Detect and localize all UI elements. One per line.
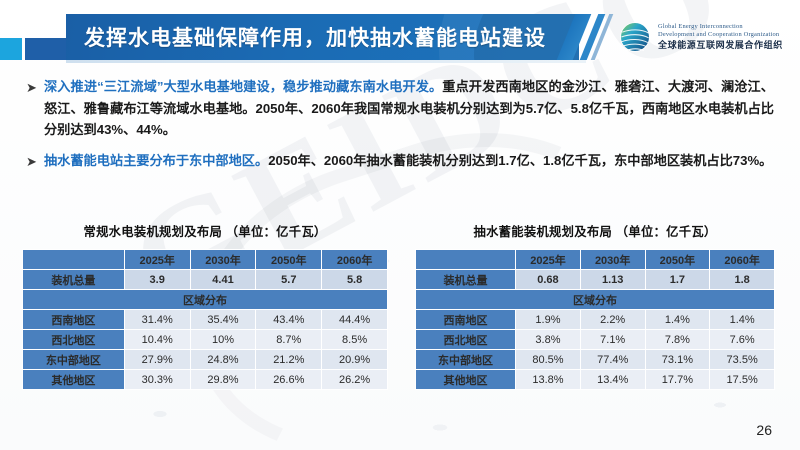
table-cell: 17.5% [710,370,774,389]
table-cell: 73.5% [710,350,774,369]
table-row: 东中部地区 27.9% 24.8% 21.2% 20.9% [23,350,387,369]
section-label: 区域分布 [23,290,387,309]
table-cell: 17.7% [646,370,710,389]
table-row: 西北地区 10.4% 10% 8.7% 8.5% [23,330,387,349]
table-cell: 5.7 [256,270,321,289]
table-cell: 3.8% [516,330,580,349]
table-header-row: 2025年 2030年 2050年 2060年 [23,250,387,269]
logo-english-line1: Global Energy Interconnection [658,23,783,30]
page-title: 发挥水电基础保障作用，加快抽水蓄能电站建设 [84,14,546,60]
table-cell: 8.7% [256,330,321,349]
table-row: 其他地区 13.8% 13.4% 17.7% 17.5% [416,370,774,389]
table-cell: 80.5% [516,350,580,369]
data-table: 2025年 2030年 2050年 2060年 装机总量 0.68 1.13 1… [415,249,775,390]
table-cell: 73.1% [646,350,710,369]
table-cell: 27.9% [125,350,190,369]
table-cell: 77.4% [581,350,645,369]
table-section-row: 区域分布 [23,290,387,309]
table-cell: 10.4% [125,330,190,349]
row-header: 西南地区 [416,310,515,329]
table-row: 西北地区 3.8% 7.1% 7.8% 7.6% [416,330,774,349]
bullet-arrow-icon: ➤ [26,76,44,98]
page-number: 26 [756,422,772,438]
table-cell: 3.9 [125,270,190,289]
table-title: 抽水蓄能装机规划及布局 （单位：亿千瓦） [415,222,775,240]
table-cell: 10% [191,330,256,349]
table-cell: 30.3% [125,370,190,389]
table-corner-cell [416,250,515,269]
table-cell: 20.9% [322,350,387,369]
row-header: 其他地区 [416,370,515,389]
header-accent-square-cyan [0,38,22,60]
table-section-row: 区域分布 [416,290,774,309]
column-header: 2025年 [125,250,190,269]
table-cell: 7.6% [710,330,774,349]
column-header: 2060年 [322,250,387,269]
organization-logo: Global Energy Interconnection Developmen… [619,16,794,58]
globe-icon [619,21,651,53]
table-row: 东中部地区 80.5% 77.4% 73.1% 73.5% [416,350,774,369]
table-cell: 1.9% [516,310,580,329]
table-row: 其他地区 30.3% 29.8% 26.6% 26.2% [23,370,387,389]
table-cell: 8.5% [322,330,387,349]
table-cell: 1.13 [581,270,645,289]
table-row: 西南地区 1.9% 2.2% 1.4% 1.4% [416,310,774,329]
table-cell: 13.8% [516,370,580,389]
table-row: 西南地区 31.4% 35.4% 43.4% 44.4% [23,310,387,329]
row-header: 西北地区 [23,330,124,349]
section-label: 区域分布 [416,290,774,309]
table-corner-cell [23,250,124,269]
table-row-total: 装机总量 0.68 1.13 1.7 1.8 [416,270,774,289]
bullet-item: ➤ 抽水蓄能电站主要分布于东中部地区。2050年、2060年抽水蓄能装机分别达到… [26,150,776,172]
table-cell: 13.4% [581,370,645,389]
table-cell: 5.8 [322,270,387,289]
bullet-list: ➤ 深入推进“三江流域”大型水电基地建设，稳步推动藏东南水电开发。重点开发西南地… [26,76,776,181]
column-header: 2030年 [581,250,645,269]
row-header: 装机总量 [416,270,515,289]
logo-chinese-name: 全球能源互联网发展合作组织 [658,40,783,50]
row-header: 东中部地区 [416,350,515,369]
table-cell: 24.8% [191,350,256,369]
table-header-row: 2025年 2030年 2050年 2060年 [416,250,774,269]
column-header: 2025年 [516,250,580,269]
table-cell: 1.4% [710,310,774,329]
row-header: 东中部地区 [23,350,124,369]
logo-english-line2: Development and Cooperation Organization [658,31,783,38]
bullet-rest: 2050年、2060年抽水蓄能装机分别达到1.7亿、1.8亿千瓦，东中部地区装机… [268,153,772,168]
table-cell: 26.2% [322,370,387,389]
table-cell: 31.4% [125,310,190,329]
bullet-text: 深入推进“三江流域”大型水电基地建设，稳步推动藏东南水电开发。重点开发西南地区的… [44,76,774,141]
slide-canvas: GEIDCO 发挥水电基础保障作用，加快抽水蓄能电站建设 [0,0,800,450]
row-header: 西南地区 [23,310,124,329]
bullet-item: ➤ 深入推进“三江流域”大型水电基地建设，稳步推动藏东南水电开发。重点开发西南地… [26,76,776,141]
data-table: 2025年 2030年 2050年 2060年 装机总量 3.9 4.41 5.… [22,249,388,390]
column-header: 2030年 [191,250,256,269]
table-cell: 44.4% [322,310,387,329]
row-header: 西北地区 [416,330,515,349]
bullet-text: 抽水蓄能电站主要分布于东中部地区。2050年、2060年抽水蓄能装机分别达到1.… [44,150,774,172]
table-cell: 26.6% [256,370,321,389]
table-cell: 43.4% [256,310,321,329]
column-header: 2050年 [256,250,321,269]
table-cell: 7.1% [581,330,645,349]
table-cell: 21.2% [256,350,321,369]
table-block-conventional-hydro: 常规水电装机规划及布局 （单位：亿千瓦） 2025年 2030年 2050年 2… [22,222,388,390]
bullet-arrow-icon: ➤ [26,150,44,172]
table-block-pumped-storage: 抽水蓄能装机规划及布局 （单位：亿千瓦） 2025年 2030年 2050年 2… [415,222,775,390]
table-row-total: 装机总量 3.9 4.41 5.7 5.8 [23,270,387,289]
table-cell: 1.7 [646,270,710,289]
table-cell: 35.4% [191,310,256,329]
header-underline [66,60,586,63]
table-title: 常规水电装机规划及布局 （单位：亿千瓦） [22,222,388,240]
column-header: 2060年 [710,250,774,269]
table-cell: 0.68 [516,270,580,289]
table-cell: 29.8% [191,370,256,389]
logo-text-block: Global Energy Interconnection Developmen… [658,23,783,50]
bullet-highlight: 抽水蓄能电站主要分布于东中部地区。 [44,153,268,168]
row-header: 装机总量 [23,270,124,289]
row-header: 其他地区 [23,370,124,389]
table-cell: 2.2% [581,310,645,329]
header-title-bar: 发挥水电基础保障作用，加快抽水蓄能电站建设 [66,14,579,60]
table-cell: 1.8 [710,270,774,289]
header-accent-square-blue [25,38,71,60]
table-cell: 4.41 [191,270,256,289]
column-header: 2050年 [646,250,710,269]
table-cell: 1.4% [646,310,710,329]
bullet-highlight: 深入推进“三江流域”大型水电基地建设，稳步推动藏东南水电开发。 [44,79,442,94]
table-cell: 7.8% [646,330,710,349]
